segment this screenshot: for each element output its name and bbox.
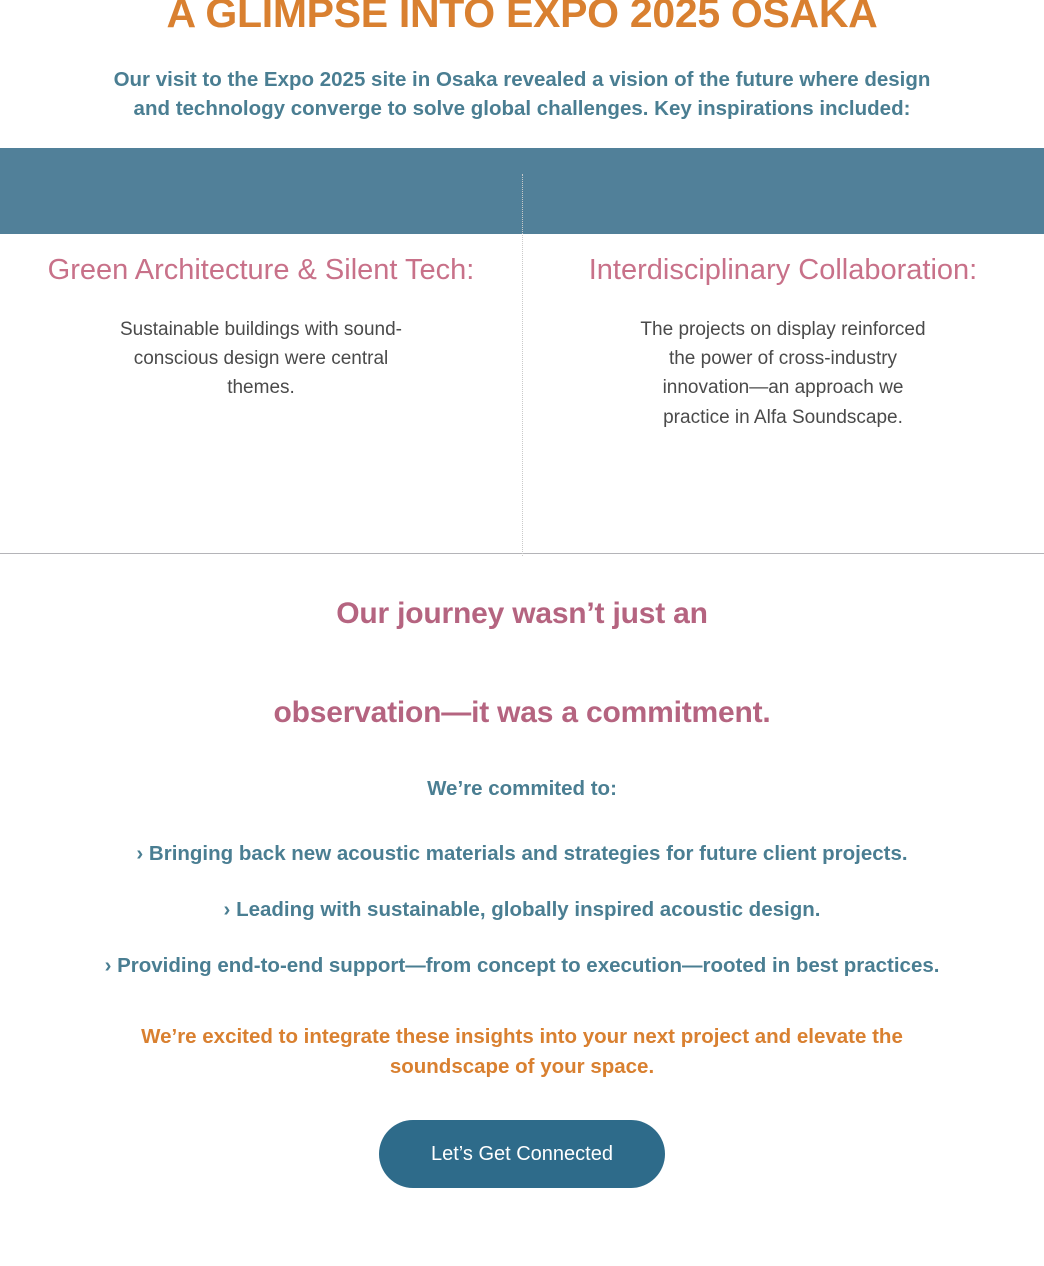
list-item: › Bringing back new acoustic materials a…	[92, 813, 952, 869]
feature-body: Sustainable buildings with sound-conscio…	[116, 291, 406, 402]
commitment-heading-line-2: observation—it was a commitment.	[40, 653, 1004, 752]
commitment-outro: We’re excited to integrate these insight…	[82, 980, 962, 1081]
chevron-right-icon: ›	[224, 898, 231, 921]
lets-get-connected-button[interactable]: Let’s Get Connected	[379, 1120, 665, 1188]
commitment-list: › Bringing back new acoustic materials a…	[40, 801, 1004, 980]
feature-title: Interdisciplinary Collaboration:	[562, 242, 1004, 291]
list-item: › Leading with sustainable, globally ins…	[92, 869, 952, 925]
chevron-right-icon: ›	[105, 954, 112, 977]
commitment-section: Our journey wasn’t just an observation—i…	[0, 554, 1044, 1082]
commitment-lead: We’re commited to:	[40, 751, 1004, 801]
cta-section: Let’s Get Connected	[0, 1082, 1044, 1188]
feature-column-interdisciplinary-collaboration: Interdisciplinary Collaboration: The pro…	[522, 242, 1044, 528]
list-item-label: Bringing back new acoustic materials and…	[149, 842, 908, 865]
feature-title: Green Architecture & Silent Tech:	[40, 242, 482, 291]
email-newsletter-page: A GLIMPSE INTO EXPO 2025 OSAKA Our visit…	[0, 0, 1044, 1260]
page-title: A GLIMPSE INTO EXPO 2025 OSAKA	[30, 0, 1014, 33]
list-item-label: Providing end-to-end support—from concep…	[117, 954, 939, 977]
list-item: › Providing end-to-end support—from conc…	[92, 925, 952, 981]
chevron-right-icon: ›	[136, 842, 143, 865]
commitment-heading-line-1: Our journey wasn’t just an	[40, 554, 1004, 653]
list-item-label: Leading with sustainable, globally inspi…	[236, 898, 820, 921]
hero-subtitle: Our visit to the Expo 2025 site in Osaka…	[112, 33, 932, 123]
feature-body: The projects on display reinforced the p…	[638, 291, 928, 431]
hero-section: A GLIMPSE INTO EXPO 2025 OSAKA Our visit…	[0, 0, 1044, 123]
column-divider	[522, 174, 523, 556]
feature-column-green-architecture: Green Architecture & Silent Tech: Sustai…	[0, 242, 522, 528]
